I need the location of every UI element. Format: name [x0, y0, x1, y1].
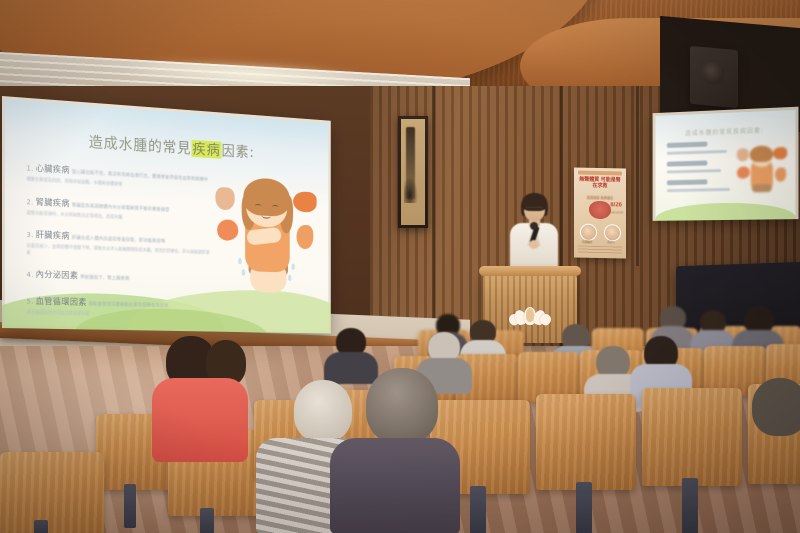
glasses-icon [526, 207, 543, 212]
poster-date: 8/26 [610, 202, 622, 208]
hanging-scroll-painting [398, 116, 428, 228]
auditorium-seat[interactable] [642, 388, 742, 486]
side-slide-line [667, 142, 707, 148]
seat-support [682, 478, 698, 533]
wall-seam [636, 86, 639, 266]
main-projection-screen[interactable]: 造成水腫的常見疾病因素: 1.心臟疾病當心臟功能不佳，無法有效將血液打出，體液便… [2, 96, 331, 334]
lotus-center [526, 308, 534, 322]
side-slide-line [667, 188, 730, 192]
poster-speaker-photo [604, 224, 621, 241]
speaker-cone-icon [702, 61, 724, 85]
ceiling-loudspeaker [690, 46, 738, 108]
scroll-paper [401, 119, 425, 225]
side-slide-line [667, 169, 721, 173]
poster-header-band [578, 171, 622, 176]
poster-time: 14:00-16:00 [608, 210, 623, 214]
poster-title: 無聲體質 可能是腎在求救 [577, 177, 623, 190]
side-slide-text-block [667, 141, 737, 197]
poster-footer-text [578, 246, 622, 255]
side-slide-line [667, 150, 727, 155]
audience-head [752, 378, 800, 436]
figure-shorts [752, 184, 772, 193]
lotus-petals [509, 301, 551, 325]
poster-speaker-photo [580, 224, 597, 241]
seat-support [200, 508, 214, 533]
side-slide-hill [655, 202, 795, 221]
wall-seam [432, 86, 435, 352]
microphone-head-icon [530, 222, 538, 230]
seat-support [470, 486, 486, 533]
seat-support [34, 520, 48, 533]
side-slide-content: 造成水腫的常見疾病因素: [655, 110, 795, 218]
audience-head [294, 380, 352, 442]
auditorium-seat[interactable] [0, 452, 104, 533]
lotus-flower-emblem [509, 301, 551, 325]
scroll-ink-base [404, 177, 418, 203]
liver-organ-icon [773, 147, 787, 160]
audience-torso [330, 438, 460, 533]
side-slide-title: 造成水腫的常見疾病因素: [655, 124, 795, 138]
auditorium-scene: 造成水腫的常見疾病因素: 1.心臟疾病當心臟功能不佳，無法有效將血液打出，體液便… [0, 0, 800, 533]
side-projection-screen[interactable]: 造成水腫的常見疾病因素: [653, 107, 799, 221]
thyroid-organ-icon [737, 148, 749, 161]
podium-top-ledge [479, 266, 581, 276]
figure-hair [750, 145, 773, 162]
seat-support [576, 482, 592, 533]
heart-organ-icon [736, 165, 751, 180]
side-slide-illustration [737, 143, 787, 201]
screen-glare [2, 96, 331, 334]
audience-head [366, 368, 438, 444]
poster-speaker-name: 主持人 [602, 240, 620, 244]
auditorium-seat[interactable] [536, 394, 636, 490]
presenter-hand [529, 240, 539, 249]
side-slide-line [667, 161, 707, 167]
poster-subtitle: 健康講座 免費報名 [578, 195, 622, 201]
seat-support [124, 484, 136, 528]
event-poster: 無聲體質 可能是腎在求救 健康講座 免費報名 8/26 14:00-16:00 … [574, 167, 626, 258]
audience-torso [152, 378, 248, 462]
side-slide-line [667, 179, 707, 185]
poster-speaker-name: 主講醫師 [578, 240, 596, 244]
audience-torso [324, 352, 378, 384]
kidney-organ-icon [775, 167, 786, 182]
